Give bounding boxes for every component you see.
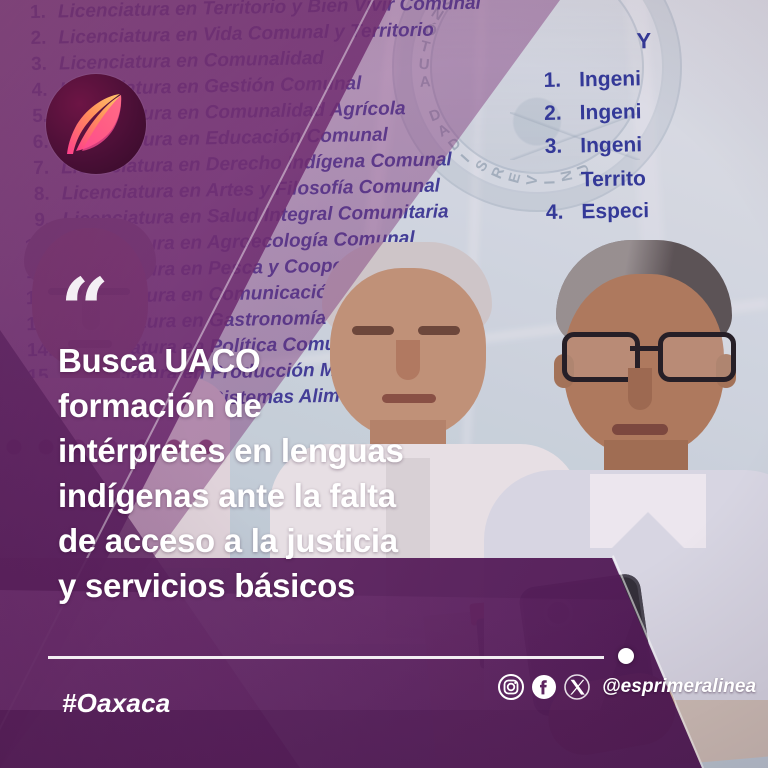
headline-line: y servicios básicos (58, 563, 488, 608)
social-links: @esprimeralinea (498, 672, 756, 702)
headline-line: de acceso a la justicia (58, 518, 488, 563)
x-twitter-icon[interactable] (564, 674, 590, 700)
social-handle[interactable]: @esprimeralinea (602, 676, 756, 698)
hashtag[interactable]: #Oaxaca (62, 688, 170, 719)
headline-line: indígenas ante la falta (58, 473, 488, 518)
footer-divider (48, 656, 604, 659)
headline-line: formación de (58, 383, 488, 428)
facebook-icon[interactable] (531, 674, 557, 700)
headline: Busca UACOformación deintérpretes en len… (58, 338, 488, 608)
headline-line: intérpretes en lenguas (58, 428, 488, 473)
feather-quill-logo[interactable] (46, 74, 146, 174)
active-slide-dot[interactable] (618, 648, 634, 664)
social-media-news-card: UNIVERSIDAD AUTÓNOMA COMUNAL 1.Licenciat… (0, 0, 768, 768)
instagram-icon[interactable] (498, 674, 524, 700)
headline-line: Busca UACO (58, 338, 488, 383)
